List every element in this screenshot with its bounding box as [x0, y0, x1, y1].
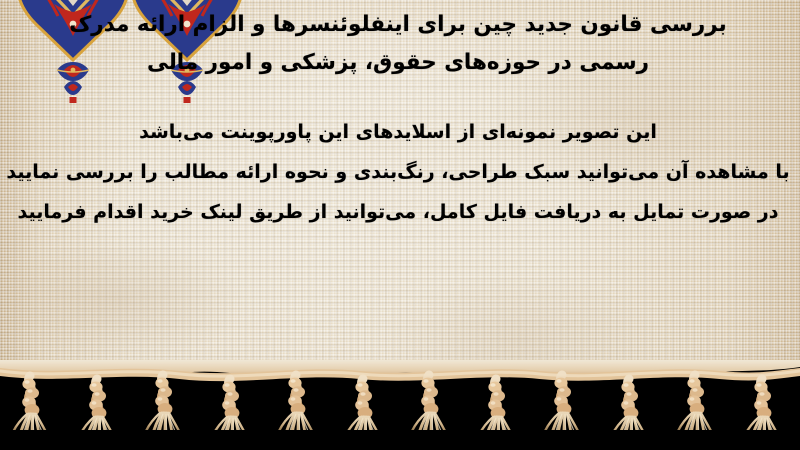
- slide-text-layer: بررسی قانون جدید چین برای اینفلوئنسرها و…: [0, 0, 800, 388]
- title-line-1: بررسی قانون جدید چین برای اینفلوئنسرها و…: [8, 6, 788, 44]
- title-line-2: رسمی در حوزه‌های حقوق، پزشکی و امور مالی: [8, 44, 788, 82]
- slide-body: این تصویر نمونه‌ای از اسلایدهای این پاور…: [4, 112, 792, 232]
- body-line-2: با مشاهده آن می‌توانید سبک طراحی، رنگ‌بن…: [4, 152, 792, 192]
- slide-title: بررسی قانون جدید چین برای اینفلوئنسرها و…: [8, 6, 788, 82]
- black-floor: [0, 430, 800, 450]
- body-line-3: در صورت تمایل به دریافت فایل کامل، می‌تو…: [4, 192, 792, 232]
- slide-canvas: بررسی قانون جدید چین برای اینفلوئنسرها و…: [0, 0, 800, 450]
- body-line-1: این تصویر نمونه‌ای از اسلایدهای این پاور…: [4, 112, 792, 152]
